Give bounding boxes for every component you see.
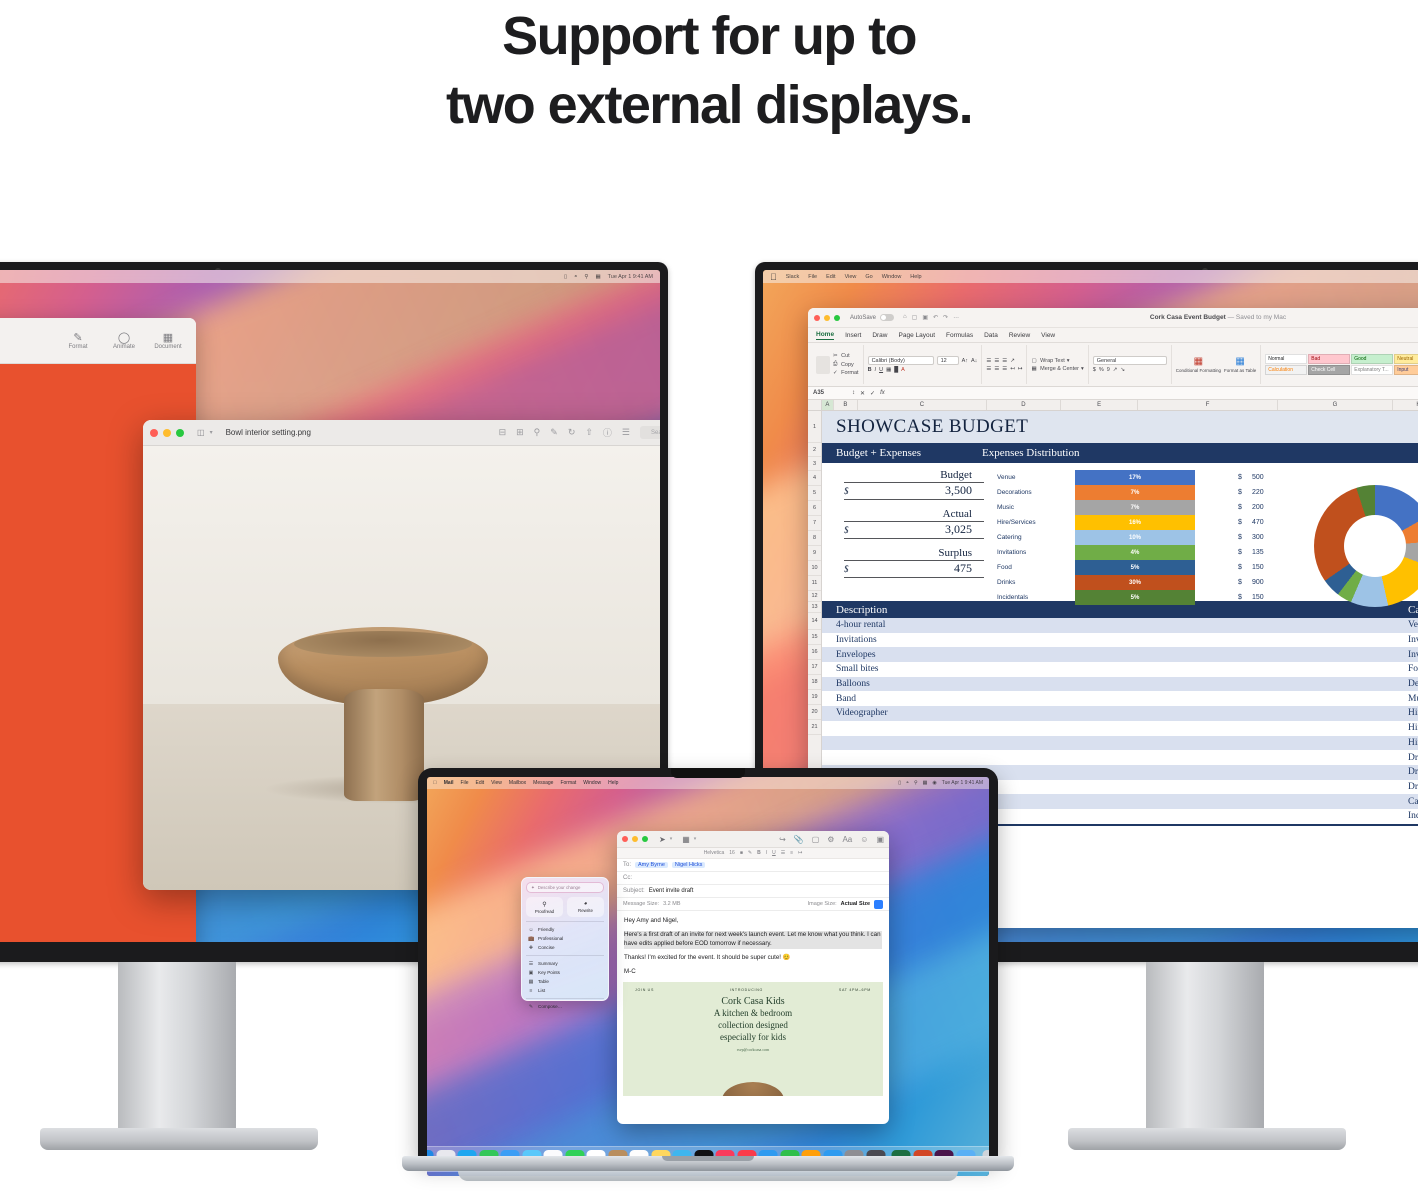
excel-ribbon-tabs[interactable]: Home Insert Draw Page Layout Formulas Da… — [808, 328, 1418, 343]
paste-button[interactable] — [816, 356, 830, 374]
mail-signature: M-C — [624, 968, 882, 977]
amount-value: 220 — [1252, 489, 1264, 496]
section-budget-expenses: Budget + Expenses — [822, 447, 982, 459]
maximize-icon[interactable] — [642, 836, 648, 842]
budget-summary: Budget $ 3,500 Actual $ 3,025 — [844, 469, 984, 586]
style-check-cell[interactable]: Check Cell — [1308, 365, 1350, 375]
pencil-icon: ✎ — [528, 1004, 534, 1010]
row-1[interactable]: 1 — [808, 411, 821, 443]
distribution-category: Incidentals — [997, 594, 1075, 601]
writing-tools-formats[interactable]: ☰ Summary ▣ Key Points ▦ Table ≡ List — [526, 955, 604, 995]
cut-button[interactable]: ✂ Cut — [833, 353, 859, 359]
close-icon[interactable] — [150, 429, 158, 437]
distribution-row: Drinks30% — [997, 575, 1267, 590]
table-row[interactable]: Hire/Services — [822, 736, 1418, 751]
column-E[interactable]: E — [1061, 400, 1139, 410]
subject-value[interactable]: Event invite draft — [649, 888, 694, 894]
distribution-category: Venue — [997, 474, 1075, 481]
preview-search-input[interactable]: Search — [640, 426, 660, 439]
ribbon-group-number[interactable]: General $ % 9 ↗ ↘ — [1089, 345, 1172, 384]
style-bad[interactable]: Bad — [1308, 354, 1350, 364]
settings-icon[interactable]: ⚙ — [827, 835, 834, 844]
right-display-menubar[interactable]:  Slack File Edit View Go Window Help — [763, 270, 1418, 283]
borders-icon[interactable]: ▦ — [886, 367, 891, 373]
row-19[interactable]: 19 — [808, 690, 821, 705]
invite-center-tag: INTRODUCING — [730, 988, 763, 992]
mail-subject-field[interactable]: Subject: Event invite draft — [617, 885, 889, 898]
control-center-icon[interactable]: ▦ — [923, 780, 928, 786]
italic-button[interactable]: I — [766, 850, 767, 856]
text-color-icon[interactable]: ■ — [740, 850, 743, 856]
amount-value: 500 — [1252, 474, 1264, 481]
fill-color-icon[interactable]: █ — [894, 367, 898, 373]
attach-icon[interactable]: 📎 — [794, 835, 804, 844]
recipient-chip-2[interactable]: Nigel Hicks — [672, 862, 706, 868]
laptop-menubar[interactable]:  Mail File Edit View Mailbox Message Fo… — [427, 777, 989, 789]
macbook-laptop:  Mail File Edit View Mailbox Message Fo… — [418, 768, 998, 1188]
row-12[interactable]: 12 — [808, 591, 821, 602]
summary-actual: Actual $ 3,025 — [844, 508, 984, 539]
table-row[interactable]: Hire/Services — [822, 721, 1418, 736]
preview-filename: Bowl interior setting.png — [226, 428, 311, 437]
wifi-icon[interactable]: ◓ — [574, 274, 577, 280]
expense-amount-row: $300 — [1238, 530, 1298, 545]
laptop-menubar-clock[interactable]: Tue Apr 1 9:41 AM — [942, 780, 983, 786]
amount-value: 300 — [1252, 534, 1264, 541]
row-category: Drinks — [1408, 767, 1418, 777]
cancel-icon[interactable]: ✕ — [860, 390, 865, 397]
format-key-points[interactable]: ▣ Key Points — [526, 968, 604, 977]
left-display-menubar[interactable]:  ▯ ◓ ⚲ ▦ Tue Apr 1 9:41 AM — [0, 270, 660, 283]
tab-formulas[interactable]: Formulas — [946, 332, 973, 339]
summary-surplus: Surplus $ 475 — [844, 547, 984, 578]
table-row[interactable]: EnvelopesInvitations — [822, 647, 1418, 662]
tone-concise[interactable]: ✚ Concise — [526, 943, 604, 952]
conditional-formatting-icon[interactable]: ▦ — [1194, 356, 1203, 367]
table-row[interactable]: Small bitesFood — [822, 662, 1418, 677]
font-color-icon[interactable]: A — [901, 367, 905, 373]
expenses-distribution-chart: Venue17%Decorations7%Music7%Hire/Service… — [997, 470, 1267, 605]
mail-paragraph: Here's a first draft of an invite for ne… — [624, 931, 882, 949]
row-16[interactable]: 16 — [808, 645, 821, 660]
stepper-icon[interactable]: ↕ — [852, 390, 855, 396]
menu-edit[interactable]: Edit — [476, 780, 485, 786]
style-explanatory[interactable]: Explanatory T... — [1351, 365, 1393, 375]
mail-format-bar[interactable]: Helvetica 16 ■ ✎ B I U ☰ ≡ ↦ — [617, 848, 889, 859]
magnifier-icon[interactable]: ⚲ — [534, 427, 541, 438]
font-family-select[interactable]: Helvetica — [704, 850, 725, 856]
writing-tools-compose[interactable]: ✎ Compose… — [526, 998, 604, 1011]
underline-button[interactable]: U — [879, 367, 883, 373]
amount-value: 135 — [1252, 549, 1264, 556]
invite-title-line-2: A kitchen & bedroom — [623, 1008, 883, 1020]
share-icon[interactable]: ⇧ — [585, 427, 593, 438]
align-top-icon[interactable]: ☰ — [986, 358, 991, 364]
distribution-row: Invitations4% — [997, 545, 1267, 560]
distribution-bar: 5% — [1075, 560, 1195, 575]
siri-icon[interactable]: ◉ — [932, 780, 936, 786]
row-description: Envelopes — [822, 650, 1408, 660]
amount-currency: $ — [1238, 489, 1252, 496]
page-title: Support for up to two external displays. — [0, 0, 1418, 140]
row-15[interactable]: 15 — [808, 630, 821, 645]
percent-format-icon[interactable]: % — [1099, 367, 1104, 373]
amount-value: 900 — [1252, 579, 1264, 586]
distribution-bar: 17% — [1075, 470, 1195, 485]
mail-greeting: Hey Amy and Nigel, — [624, 917, 882, 926]
invite-attachment-preview[interactable]: JOIN US INTRODUCING SAT 4PM–6PM Cork Cas… — [623, 982, 883, 1096]
mail-toolbar[interactable]: ➤ ▾ ▦ ▾ ↪ 📎 ▢ ⚙ Aa ☺ ▣ — [617, 831, 889, 848]
orientation-icon[interactable]: ↗ — [1010, 358, 1015, 364]
excel-titlebar[interactable]: AutoSave ⌂ ▢ ▣ ↶ ↷ … Cork Casa Event Bud… — [808, 308, 1418, 328]
search-icon[interactable]: ⚲ — [584, 274, 588, 280]
laptop-notch — [671, 768, 745, 778]
zoom-in-icon[interactable]: ⊞ — [516, 427, 524, 438]
menu-file[interactable]: File — [808, 274, 817, 280]
menu-window[interactable]: Window — [882, 274, 902, 280]
tab-data[interactable]: Data — [984, 332, 998, 339]
column-C[interactable]: C — [858, 400, 987, 410]
comma-format-icon[interactable]: 9 — [1107, 367, 1110, 373]
minimize-icon[interactable] — [632, 836, 638, 842]
column-H[interactable]: H — [1393, 400, 1418, 410]
row-4[interactable]: 4 — [808, 471, 821, 486]
distribution-row: Music7% — [997, 500, 1267, 515]
search-icon[interactable]: ⚲ — [914, 780, 918, 786]
excel-ribbon[interactable]: ✂ Cut ⎙ Copy ✓ Format Calibri (Body) 12 … — [808, 343, 1418, 387]
style-normal[interactable]: Normal — [1265, 354, 1307, 364]
row-21[interactable]: 21 — [808, 720, 821, 735]
conditional-formatting-label: Conditional Formatting — [1176, 369, 1221, 374]
mail-cc-field[interactable]: Cc: — [617, 872, 889, 885]
apple-logo-icon[interactable]:  — [770, 272, 777, 282]
row-description: 4-hour rental — [822, 620, 1408, 630]
ribbon-group-cell-styles[interactable]: Normal Bad Good Neutral Calculation Chec… — [1261, 345, 1418, 384]
cell-styles-gallery[interactable]: Normal Bad Good Neutral Calculation Chec… — [1265, 354, 1418, 375]
ribbon-group-clipboard[interactable]: ✂ Cut ⎙ Copy ✓ Format — [812, 345, 864, 384]
distribution-row: Hire/Services16% — [997, 515, 1267, 530]
align-left-icon[interactable]: ☰ — [986, 366, 991, 372]
format-icon[interactable]: Aa — [842, 835, 852, 844]
document-icon: ▦ — [146, 332, 190, 344]
highlight-icon[interactable]: ✎ — [748, 850, 752, 856]
table-row[interactable]: InvitationsInvitations — [822, 633, 1418, 648]
align-middle-icon[interactable]: ☰ — [994, 358, 999, 364]
decrease-decimal-icon[interactable]: ↘ — [1120, 367, 1125, 373]
bold-button[interactable]: B — [757, 850, 761, 856]
keynote-format-button[interactable]: ✎ Format — [56, 332, 100, 350]
italic-button[interactable]: I — [875, 367, 877, 373]
amount-value: 470 — [1252, 519, 1264, 526]
menu-go[interactable]: Go — [865, 274, 872, 280]
invite-left-tag: JOIN US — [635, 988, 654, 992]
distribution-category: Hire/Services — [997, 519, 1075, 526]
wrap-text-button[interactable]: ▢ Wrap Text ▾ — [1031, 358, 1083, 364]
row-14[interactable]: 14 — [808, 613, 821, 630]
compose-button[interactable]: ✎ Compose… — [526, 1002, 604, 1011]
number-format-select[interactable]: General — [1093, 356, 1167, 365]
tab-home[interactable]: Home — [816, 331, 834, 340]
merge-center-button[interactable]: ▦ Merge & Center ▾ — [1031, 366, 1083, 372]
ribbon-group-conditional[interactable]: ▦ Conditional Formatting ▦ Format as Tab… — [1172, 345, 1261, 384]
distribution-row: Food5% — [997, 560, 1267, 575]
excel-column-headers[interactable]: A B C D E F G H I J K — [808, 400, 1418, 411]
control-center-icon[interactable]: ▦ — [595, 274, 600, 280]
amount-value: 150 — [1252, 564, 1264, 571]
row-20[interactable]: 20 — [808, 705, 821, 720]
column-G[interactable]: G — [1278, 400, 1393, 410]
sparkle-icon: ✦ — [531, 885, 535, 891]
mail-attachment-meta[interactable]: Message Size: 3.2 MB Image Size: Actual … — [617, 898, 889, 911]
message-size-label: Message Size: — [623, 901, 659, 907]
summary-actual-value: 3,025 — [849, 522, 985, 537]
close-icon[interactable] — [622, 836, 628, 842]
menu-view[interactable]: View — [491, 780, 502, 786]
align-bottom-icon[interactable]: ☰ — [1002, 358, 1007, 364]
align-icon[interactable]: ☰ — [781, 850, 785, 856]
briefcase-icon: 💼 — [528, 936, 534, 942]
tab-view[interactable]: View — [1041, 332, 1055, 339]
row-6[interactable]: 6 — [808, 501, 821, 516]
row-3[interactable]: 3 — [808, 457, 821, 471]
cc-label: Cc: — [623, 875, 632, 881]
currency-format-icon[interactable]: $ — [1093, 367, 1096, 373]
amount-currency: $ — [1238, 594, 1252, 601]
list-icon[interactable]: ☰ — [622, 427, 630, 438]
mail-body[interactable]: Hey Amy and Nigel, Here's a first draft … — [617, 911, 889, 977]
align-center-icon[interactable]: ☰ — [994, 366, 999, 372]
apple-logo-icon[interactable]:  — [433, 780, 437, 786]
row-13[interactable]: 13 — [808, 602, 821, 613]
chevron-down-icon[interactable]: ▾ — [670, 836, 673, 842]
ribbon-group-font[interactable]: Calibri (Body) 12 A↑ A↓ B I U ▦ █ A — [864, 345, 983, 384]
distribution-bar: 7% — [1075, 485, 1195, 500]
underline-button[interactable]: U — [772, 850, 776, 856]
menu-view[interactable]: View — [845, 274, 857, 280]
row-11[interactable]: 11 — [808, 576, 821, 591]
table-row[interactable]: Drinks — [822, 750, 1418, 765]
info-icon[interactable]: ⓘ — [603, 426, 612, 439]
photo-icon[interactable]: ▣ — [876, 835, 884, 844]
markup-icon[interactable]: ✎ — [550, 427, 558, 438]
tone-professional[interactable]: 💼 Professional — [526, 934, 604, 943]
font-size-select[interactable]: 16 — [729, 850, 735, 856]
row-5[interactable]: 5 — [808, 486, 821, 501]
invite-title-line-4: especially for kids — [623, 1032, 883, 1044]
amount-value: 200 — [1252, 504, 1264, 511]
ribbon-group-wrap[interactable]: ▢ Wrap Text ▾ ▦ Merge & Center ▾ — [1027, 345, 1088, 384]
style-input[interactable]: Input — [1394, 365, 1418, 375]
table-row[interactable]: BandMusic — [822, 691, 1418, 706]
row-category: Music — [1408, 694, 1418, 704]
increase-indent-icon[interactable]: ↦ — [1018, 366, 1023, 372]
tone-friendly[interactable]: ☺ Friendly — [526, 925, 604, 934]
row-category: Hire/Services — [1408, 738, 1418, 748]
indent-icon[interactable]: ↦ — [798, 850, 802, 856]
amount-currency: $ — [1238, 519, 1252, 526]
distribution-category: Decorations — [997, 489, 1075, 496]
decrease-indent-icon[interactable]: ↤ — [1010, 366, 1015, 372]
menu-slack[interactable]: Slack — [786, 274, 799, 280]
menu-message[interactable]: Message — [533, 780, 553, 786]
tab-page-layout[interactable]: Page Layout — [899, 332, 936, 339]
list-icon: ≡ — [528, 988, 534, 994]
select-all-corner[interactable] — [808, 400, 822, 410]
table-row[interactable]: VideographerHire/Services — [822, 706, 1418, 721]
style-neutral[interactable]: Neutral — [1394, 354, 1418, 364]
wifi-icon[interactable]: ◓ — [906, 780, 909, 786]
function-icon[interactable]: fx — [880, 390, 885, 396]
rewrite-icon: ◕ — [584, 901, 588, 907]
rotate-icon[interactable]: ↻ — [568, 427, 576, 438]
distribution-category: Food — [997, 564, 1075, 571]
menu-window[interactable]: Window — [583, 780, 601, 786]
format-list[interactable]: ≡ List — [526, 986, 604, 995]
menu-mail[interactable]: Mail — [444, 780, 454, 786]
writing-tools-icon[interactable] — [874, 900, 883, 909]
name-box[interactable]: A35 — [813, 390, 847, 396]
table-row[interactable]: BalloonsDecorations — [822, 677, 1418, 692]
writing-tools-input[interactable]: ✦ Describe your change — [526, 882, 604, 893]
row-9[interactable]: 9 — [808, 546, 821, 561]
minimize-icon[interactable] — [163, 429, 171, 437]
row-10[interactable]: 10 — [808, 561, 821, 576]
distribution-bar: 16% — [1075, 515, 1195, 530]
ribbon-group-alignment[interactable]: ☰ ☰ ☰ ↗ ☰ ☰ ☰ ↤ ↦ — [982, 345, 1027, 384]
menu-help[interactable]: Help — [608, 780, 618, 786]
keynote-animate-button[interactable]: ◯ Animate — [102, 332, 146, 350]
image-size-select[interactable]: Actual Size — [841, 901, 870, 907]
writing-tools-popover[interactable]: ✦ Describe your change ⚲ Proofread ◕ Rew… — [521, 877, 609, 1001]
keynote-document-button[interactable]: ▦ Document — [146, 332, 190, 350]
menu-edit[interactable]: Edit — [826, 274, 835, 280]
menubar-clock[interactable]: Tue Apr 1 9:41 AM — [608, 274, 653, 280]
to-label: To: — [623, 862, 631, 868]
tab-draw[interactable]: Draw — [872, 332, 887, 339]
distribution-category: Drinks — [997, 579, 1075, 586]
amount-currency: $ — [1238, 504, 1252, 511]
sheet-summary-area: Budget $ 3,500 Actual $ 3,025 — [822, 463, 1418, 601]
row-2[interactable]: 2 — [808, 443, 821, 457]
row-category: Catering — [1408, 797, 1418, 807]
format-summary[interactable]: ☰ Summary — [526, 959, 604, 968]
row-7[interactable]: 7 — [808, 516, 821, 531]
summary-budget-value: 3,500 — [849, 483, 985, 498]
format-table[interactable]: ▦ Table — [526, 977, 604, 986]
row-category: Venue — [1408, 620, 1418, 630]
maximize-icon[interactable] — [176, 429, 184, 437]
right-display-stand-foot — [1068, 1128, 1346, 1150]
amount-currency: $ — [1238, 534, 1252, 541]
expense-amount-row: $220 — [1238, 485, 1298, 500]
expense-amount-row: $135 — [1238, 545, 1298, 560]
column-F[interactable]: F — [1138, 400, 1277, 410]
sidebar-icon[interactable]: ◫ — [197, 428, 205, 437]
row-category: Invitations — [1408, 650, 1418, 660]
font-size-select[interactable]: 12 — [937, 356, 959, 365]
writing-tools-tones[interactable]: ☺ Friendly 💼 Professional ✚ Concise — [526, 921, 604, 952]
keynote-toolbar[interactable]: Deck Edited ▣ Media ☐ Comment ⇧ Share ✎ — [0, 318, 196, 364]
battery-icon[interactable]: ▯ — [564, 274, 567, 280]
table-row[interactable]: 4-hour rentalVenue — [822, 618, 1418, 633]
confirm-icon[interactable]: ✓ — [870, 390, 875, 397]
proofread-button[interactable]: ⚲ Proofread — [526, 897, 563, 917]
amount-currency: $ — [1238, 474, 1252, 481]
left-display-stand-foot — [40, 1128, 318, 1150]
laptop-base — [402, 1156, 1014, 1171]
column-D[interactable]: D — [987, 400, 1061, 410]
row-8[interactable]: 8 — [808, 531, 821, 546]
excel-formula-bar[interactable]: A35 ↕ ✕ ✓ fx — [808, 387, 1418, 400]
tab-review[interactable]: Review — [1009, 332, 1030, 339]
row-17[interactable]: 17 — [808, 660, 821, 675]
menu-mailbox[interactable]: Mailbox — [509, 780, 526, 786]
list-icon[interactable]: ≡ — [790, 850, 793, 856]
column-A[interactable]: A — [822, 400, 834, 410]
chevron-down-icon[interactable]: ▾ — [210, 429, 213, 436]
distribution-row: Incidentals5% — [997, 590, 1267, 605]
sheet-title: SHOWCASE BUDGET — [822, 411, 1418, 443]
distribution-bar: 4% — [1075, 545, 1195, 560]
align-right-icon[interactable]: ☰ — [1002, 366, 1007, 372]
key-points-icon: ▣ — [528, 970, 534, 976]
tab-insert[interactable]: Insert — [845, 332, 861, 339]
send-icon[interactable]: ➤ — [659, 835, 666, 844]
summary-actual-label: Actual — [844, 508, 984, 522]
summary-icon: ☰ — [528, 961, 534, 967]
column-B[interactable]: B — [834, 400, 858, 410]
row-18[interactable]: 18 — [808, 675, 821, 690]
menu-help[interactable]: Help — [910, 274, 921, 280]
friendly-icon: ☺ — [528, 927, 534, 933]
battery-icon[interactable]: ▯ — [898, 780, 901, 786]
increase-font-icon[interactable]: A↑ — [962, 358, 968, 364]
mail-to-field[interactable]: To: Amy Byrne Nigel Hicks — [617, 859, 889, 872]
distribution-category: Catering — [997, 534, 1075, 541]
style-calculation[interactable]: Calculation — [1265, 365, 1307, 375]
increase-decimal-icon[interactable]: ↗ — [1113, 367, 1118, 373]
mail-compose-window[interactable]: ➤ ▾ ▦ ▾ ↪ 📎 ▢ ⚙ Aa ☺ ▣ Helvetica 16 ■ ✎ — [617, 831, 889, 1124]
format-as-table-icon[interactable]: ▦ — [1235, 356, 1244, 367]
stationery-icon[interactable]: ▦ — [682, 835, 690, 844]
style-good[interactable]: Good — [1351, 354, 1393, 364]
menu-file[interactable]: File — [460, 780, 468, 786]
message-size-value: 3.2 MB — [663, 901, 680, 907]
emoji-icon[interactable]: ☺ — [860, 835, 868, 844]
recipient-chip-1[interactable]: Amy Byrne — [635, 862, 668, 868]
reply-icon[interactable]: ↪ — [779, 835, 786, 844]
invite-title-line-1: Cork Casa Kids — [623, 996, 883, 1009]
magnifier-icon: ⚲ — [542, 901, 546, 908]
signature-icon[interactable]: ▢ — [812, 835, 820, 844]
bold-button[interactable]: B — [868, 367, 872, 373]
expense-amount-row: $500 — [1238, 470, 1298, 485]
menu-format[interactable]: Format — [560, 780, 576, 786]
chevron-down-icon-2[interactable]: ▾ — [694, 836, 697, 842]
preview-titlebar[interactable]: ◫ ▾ Bowl interior setting.png ⊟ ⊞ ⚲ ✎ ↻ … — [143, 420, 660, 446]
copy-button[interactable]: ⎙ Copy — [833, 361, 859, 368]
row-description: Balloons — [822, 679, 1408, 689]
writing-tools-placeholder: Describe your change — [538, 885, 581, 890]
decrease-font-icon[interactable]: A↓ — [971, 358, 977, 364]
distribution-row: Catering10% — [997, 530, 1267, 545]
font-family-select[interactable]: Calibri (Body) — [868, 356, 934, 365]
format-painter-button[interactable]: ✓ Format — [833, 370, 859, 376]
rewrite-button[interactable]: ◕ Rewrite — [567, 897, 604, 917]
image-size-label: Image Size: — [808, 901, 837, 907]
row-category: Drinks — [1408, 753, 1418, 763]
zoom-out-icon[interactable]: ⊟ — [499, 427, 507, 438]
